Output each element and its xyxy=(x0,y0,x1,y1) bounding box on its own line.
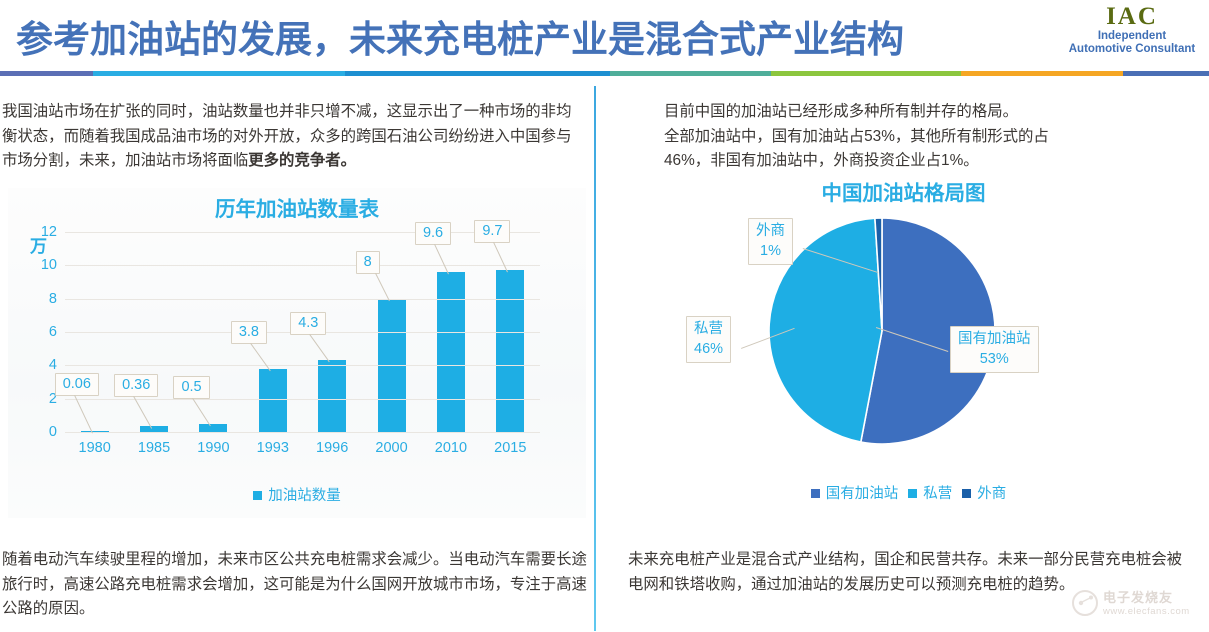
pie-callout: 国有加油站53% xyxy=(950,326,1039,373)
bar[interactable] xyxy=(199,424,227,432)
pie-legend-swatch-icon xyxy=(962,489,971,498)
pie-callout: 私营46% xyxy=(686,316,731,363)
x-axis-label: 1985 xyxy=(124,440,183,456)
bar-value-callout: 9.6 xyxy=(415,222,451,245)
pie-callout-value: 1% xyxy=(756,241,785,261)
logo-main-text: IAC xyxy=(1059,4,1205,30)
pie-legend-label[interactable]: 国有加油站 xyxy=(826,486,899,502)
logo-sub-line2: Automotive Consultant xyxy=(1059,43,1205,56)
bar-chart-legend: 加油站数量 xyxy=(8,484,586,505)
pie-callout-value: 53% xyxy=(958,349,1031,369)
bar-chart-x-labels: 19801985199019931996200020102015 xyxy=(65,440,540,456)
bar-value-callout: 4.3 xyxy=(290,312,326,335)
slide: 参考加油站的发展，未来充电桩产业是混合式产业结构 IAC Independent… xyxy=(0,0,1209,631)
right-column: 目前中国的加油站已经形成多种所有制并存的格局。 全部加油站中，国有加油站占53%… xyxy=(598,86,1209,631)
y-axis-tick: 0 xyxy=(27,424,57,440)
rainbow-segment-1 xyxy=(93,71,345,76)
x-axis-label: 2015 xyxy=(481,440,540,456)
bar-chart-legend-label: 加油站数量 xyxy=(268,488,341,504)
bar[interactable] xyxy=(259,369,287,432)
x-axis-label: 2000 xyxy=(362,440,421,456)
gridline xyxy=(65,299,540,300)
logo-sub-line1: Independent xyxy=(1059,30,1205,43)
pie-callout: 外商1% xyxy=(748,218,793,265)
watermark: 电子发烧友 www.elecfans.com xyxy=(1071,583,1203,627)
pie-legend-label[interactable]: 外商 xyxy=(977,486,1006,502)
pie-legend-swatch-icon xyxy=(908,489,917,498)
rainbow-segment-6 xyxy=(1123,71,1209,76)
right-top-paragraph: 目前中国的加油站已经形成多种所有制并存的格局。 全部加油站中，国有加油站占53%… xyxy=(664,100,1204,174)
legend-swatch-icon xyxy=(253,491,262,500)
y-axis-tick: 4 xyxy=(27,357,57,373)
rainbow-segment-2 xyxy=(345,71,610,76)
y-axis-tick: 10 xyxy=(27,257,57,273)
bar-value-callout: 0.36 xyxy=(114,374,158,397)
x-axis-label: 1980 xyxy=(65,440,124,456)
pie-legend-label[interactable]: 私营 xyxy=(923,486,952,502)
right-top-line-2: 全部加油站中，国有加油站占53%，其他所有制形式的占 xyxy=(664,125,1204,150)
gridline xyxy=(65,265,540,266)
page-title: 参考加油站的发展，未来充电桩产业是混合式产业结构 xyxy=(16,18,904,62)
gridline xyxy=(65,432,540,433)
gridline xyxy=(65,365,540,366)
pie-callout-label: 私营 xyxy=(694,319,723,339)
y-axis-tick: 2 xyxy=(27,391,57,407)
bar-chart-title: 历年加油站数量表 xyxy=(8,192,586,222)
bar[interactable] xyxy=(318,360,346,432)
pie-chart-legend: 国有加油站私营外商 xyxy=(598,482,1209,503)
pie-callout-label: 国有加油站 xyxy=(958,329,1031,349)
left-top-paragraph-bold: 更多的竞争者。 xyxy=(248,152,356,169)
left-column: 我国油站市场在扩张的同时，油站数量也并非只增不减，这显示出了一种市场的非均衡状态… xyxy=(0,86,592,631)
bar[interactable] xyxy=(437,272,465,432)
pie-callout-label: 外商 xyxy=(756,221,785,241)
y-axis-tick: 12 xyxy=(27,224,57,240)
column-divider xyxy=(594,86,596,631)
rainbow-segment-3 xyxy=(610,71,771,76)
rainbow-segment-4 xyxy=(771,71,961,76)
watermark-url: www.elecfans.com xyxy=(1103,606,1190,617)
iac-logo: IAC Independent Automotive Consultant xyxy=(1059,4,1205,56)
y-axis-tick: 8 xyxy=(27,291,57,307)
x-axis-label: 2010 xyxy=(421,440,480,456)
left-top-paragraph: 我国油站市场在扩张的同时，油站数量也并非只增不减，这显示出了一种市场的非均衡状态… xyxy=(2,100,582,174)
pie-callout-value: 46% xyxy=(694,339,723,359)
bar-value-callout: 8 xyxy=(356,251,380,274)
rainbow-segment-5 xyxy=(961,71,1123,76)
pie-chart-title: 中国加油站格局图 xyxy=(598,176,1209,206)
y-axis-tick: 6 xyxy=(27,324,57,340)
bar-chart-panel: 历年加油站数量表 万 121086420 1980198519901993199… xyxy=(8,188,586,518)
bar-value-callout: 0.06 xyxy=(55,373,99,396)
bar-value-callout: 0.5 xyxy=(173,376,209,399)
x-axis-label: 1990 xyxy=(184,440,243,456)
x-axis-label: 1996 xyxy=(303,440,362,456)
pie-chart-panel: 中国加油站格局图 国有加油站53%私营46%外商1% 国有加油站私营外商 xyxy=(598,176,1209,526)
x-axis-label: 1993 xyxy=(243,440,302,456)
bar-value-callout: 3.8 xyxy=(231,321,267,344)
slide-header: 参考加油站的发展，未来充电桩产业是混合式产业结构 IAC Independent… xyxy=(0,0,1209,80)
rainbow-segment-0 xyxy=(0,71,93,76)
bar-value-callout: 9.7 xyxy=(474,220,510,243)
right-top-line-1: 目前中国的加油站已经形成多种所有制并存的格局。 xyxy=(664,100,1204,125)
watermark-text: 电子发烧友 xyxy=(1103,587,1190,606)
gridline xyxy=(65,232,540,233)
left-bottom-paragraph: 随着电动汽车续驶里程的增加，未来市区公共充电桩需求会减少。当电动汽车需要长途旅行… xyxy=(2,548,587,622)
pie-legend-swatch-icon xyxy=(811,489,820,498)
right-top-line-3: 46%，非国有加油站中，外商投资企业占1%。 xyxy=(664,149,1204,174)
bar[interactable] xyxy=(496,270,524,432)
rainbow-divider-bar xyxy=(0,71,1209,76)
